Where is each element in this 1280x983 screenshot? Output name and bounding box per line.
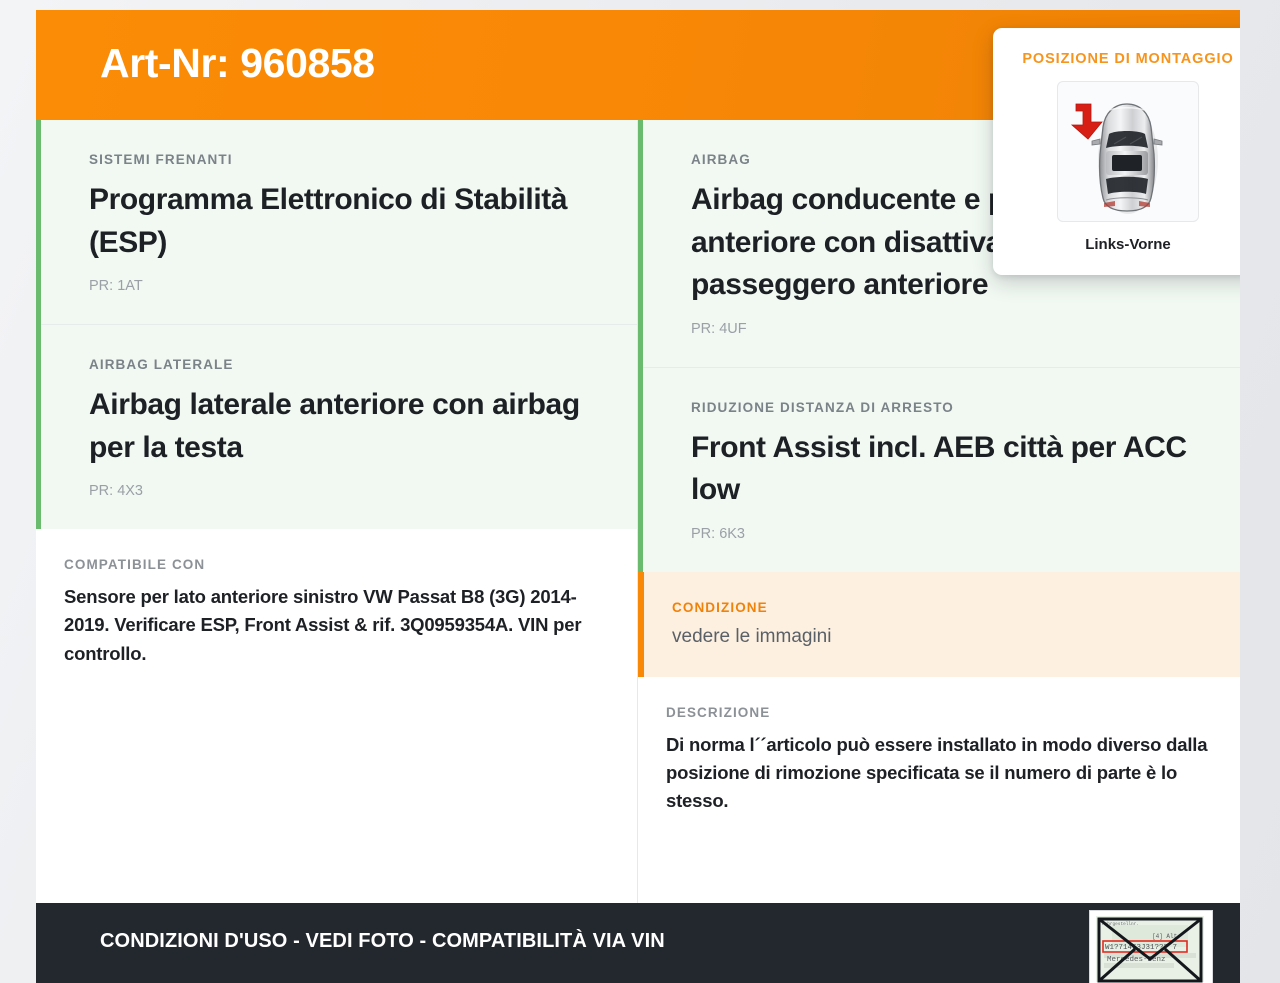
feature-category: AIRBAG LATERALE [89,357,609,372]
condition-text: vedere le immagini [672,624,1210,651]
feature-card[interactable]: SISTEMI FRENANTI Programma Elettronico d… [41,120,637,324]
listing-sheet: Art-Nr: 960858 SISTEMI FRENANTI Programm… [36,10,1240,983]
compatibility-label: COMPATIBILE CON [64,557,607,572]
vin-document-envelope-icon[interactable]: Fahrgestellnr. [4] Alt W1?71463J31??? 7 … [1089,910,1213,983]
feature-title: Programma Elettronico di Stabilità (ESP) [89,179,609,264]
svg-text:Mercedes-Benz: Mercedes-Benz [1107,956,1166,964]
compatibility-block: COMPATIBILE CON Sensore per lato anterio… [36,529,637,693]
feature-title: Front Assist incl. AEB città per ACC low [691,427,1212,512]
feature-card[interactable]: RIDUZIONE DISTANZA DI ARRESTO Front Assi… [643,367,1240,572]
article-number-title: Art-Nr: 960858 [100,40,375,87]
car-top-view-icon [1058,82,1196,219]
feature-category: SISTEMI FRENANTI [89,152,609,167]
feature-pr-code: PR: 1AT [89,278,609,294]
mounting-position-card[interactable]: POSIZIONE DI MONTAGGIO [993,28,1240,275]
car-diagram-frame [1057,81,1199,222]
left-feature-group: SISTEMI FRENANTI Programma Elettronico d… [36,120,637,529]
footer-bar: CONDIZIONI D'USO - VEDI FOTO - COMPATIBI… [36,903,1240,983]
compatibility-text: Sensore per lato anteriore sinistro VW P… [64,583,607,667]
feature-card[interactable]: AIRBAG LATERALE Airbag laterale anterior… [41,324,637,529]
condition-block: CONDIZIONE vedere le immagini [638,572,1240,677]
description-block: DESCRIZIONE Di norma l´´articolo può ess… [638,677,1240,841]
mounting-position-title: POSIZIONE DI MONTAGGIO [993,28,1240,67]
position-arrow-icon [1072,104,1102,139]
description-text: Di norma l´´articolo può essere installa… [666,731,1210,815]
feature-title: Airbag laterale anteriore con airbag per… [89,384,609,469]
footer-terms-text: CONDIZIONI D'USO - VEDI FOTO - COMPATIBI… [100,930,665,953]
description-label: DESCRIZIONE [666,705,1210,720]
feature-pr-code: PR: 4UF [691,321,1212,337]
mounting-position-caption: Links-Vorne [993,236,1240,253]
feature-pr-code: PR: 4X3 [89,483,609,499]
feature-pr-code: PR: 6K3 [691,526,1212,542]
left-column: SISTEMI FRENANTI Programma Elettronico d… [36,120,638,903]
feature-category: RIDUZIONE DISTANZA DI ARRESTO [691,400,1212,415]
condition-label: CONDIZIONE [672,600,1210,615]
